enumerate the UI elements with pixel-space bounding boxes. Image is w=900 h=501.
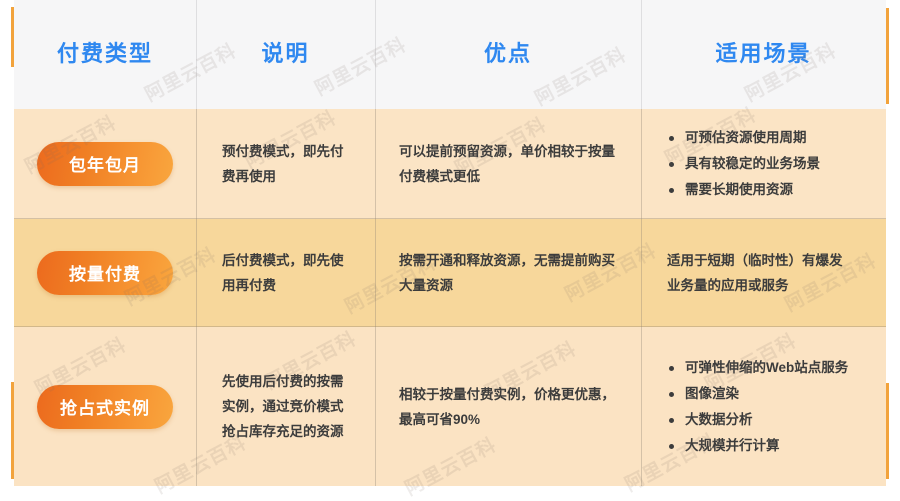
- cell-description: 后付费模式，即先使 用再付费: [196, 219, 375, 327]
- description-text: 先使用后付费的按需 实例，通过竞价模式 抢占库存充足的资源: [196, 369, 375, 444]
- list-item: 大数据分析: [669, 407, 870, 433]
- pricing-comparison-table-page: 付费类型 说明 优点 适用场景 包年包月 预付费模式，即先付 费再使用 可以提前…: [0, 0, 900, 486]
- cell-description: 预付费模式，即先付 费再使用: [196, 109, 375, 219]
- table-row: 按量付费 后付费模式，即先使 用再付费 按需开通和释放资源，无需提前购买 大量资…: [14, 219, 886, 327]
- column-header-desc: 说明: [196, 0, 375, 109]
- payment-type-badge: 抢占式实例: [37, 385, 173, 429]
- list-item: 可预估资源使用周期: [669, 125, 870, 151]
- list-item: 需要长期使用资源: [669, 177, 870, 203]
- pros-text: 按需开通和释放资源，无需提前购买 大量资源: [375, 248, 641, 298]
- cell-pros: 可以提前预留资源，单价相较于按量 付费模式更低: [375, 109, 641, 219]
- bracket-line-vertical: [886, 8, 889, 104]
- comparison-table: 付费类型 说明 优点 适用场景 包年包月 预付费模式，即先付 费再使用 可以提前…: [14, 0, 886, 486]
- column-header-label: 付费类型: [14, 41, 196, 67]
- column-header-scenario: 适用场景: [641, 0, 886, 109]
- scenario-bullet-list: 可预估资源使用周期 具有较稳定的业务场景 需要长期使用资源: [641, 125, 886, 203]
- list-item: 具有较稳定的业务场景: [669, 151, 870, 177]
- cell-description: 先使用后付费的按需 实例，通过竞价模式 抢占库存充足的资源: [196, 327, 375, 486]
- column-header-pros: 优点: [375, 0, 641, 109]
- cell-payment-type: 抢占式实例: [14, 327, 196, 486]
- table-header-row: 付费类型 说明 优点 适用场景: [14, 0, 886, 109]
- table-row: 抢占式实例 先使用后付费的按需 实例，通过竞价模式 抢占库存充足的资源 相较于按…: [14, 327, 886, 486]
- column-header-label: 适用场景: [641, 41, 886, 67]
- list-item: 大规模并行计算: [669, 433, 870, 459]
- column-header-type: 付费类型: [14, 0, 196, 109]
- payment-type-badge: 按量付费: [37, 251, 173, 295]
- description-text: 预付费模式，即先付 费再使用: [196, 139, 375, 189]
- pros-text: 可以提前预留资源，单价相较于按量 付费模式更低: [375, 139, 641, 189]
- table-row: 包年包月 预付费模式，即先付 费再使用 可以提前预留资源，单价相较于按量 付费模…: [14, 109, 886, 219]
- cell-scenario: 可预估资源使用周期 具有较稳定的业务场景 需要长期使用资源: [641, 109, 886, 219]
- payment-type-badge: 包年包月: [37, 142, 173, 186]
- cell-scenario: 可弹性伸缩的Web站点服务 图像渲染 大数据分析 大规模并行计算: [641, 327, 886, 486]
- cell-payment-type: 包年包月: [14, 109, 196, 219]
- cell-pros: 按需开通和释放资源，无需提前购买 大量资源: [375, 219, 641, 327]
- cell-scenario: 适用于短期（临时性）有爆发 业务量的应用或服务: [641, 219, 886, 327]
- description-text: 后付费模式，即先使 用再付费: [196, 248, 375, 298]
- pros-text: 相较于按量付费实例，价格更优惠， 最高可省90%: [375, 382, 641, 432]
- list-item: 可弹性伸缩的Web站点服务: [669, 355, 870, 381]
- list-item: 图像渲染: [669, 381, 870, 407]
- column-header-label: 优点: [375, 41, 641, 67]
- scenario-bullet-list: 可弹性伸缩的Web站点服务 图像渲染 大数据分析 大规模并行计算: [641, 355, 886, 459]
- cell-payment-type: 按量付费: [14, 219, 196, 327]
- cell-pros: 相较于按量付费实例，价格更优惠， 最高可省90%: [375, 327, 641, 486]
- scenario-text: 适用于短期（临时性）有爆发 业务量的应用或服务: [641, 248, 886, 298]
- bracket-line-vertical: [886, 383, 889, 479]
- column-header-label: 说明: [196, 41, 375, 67]
